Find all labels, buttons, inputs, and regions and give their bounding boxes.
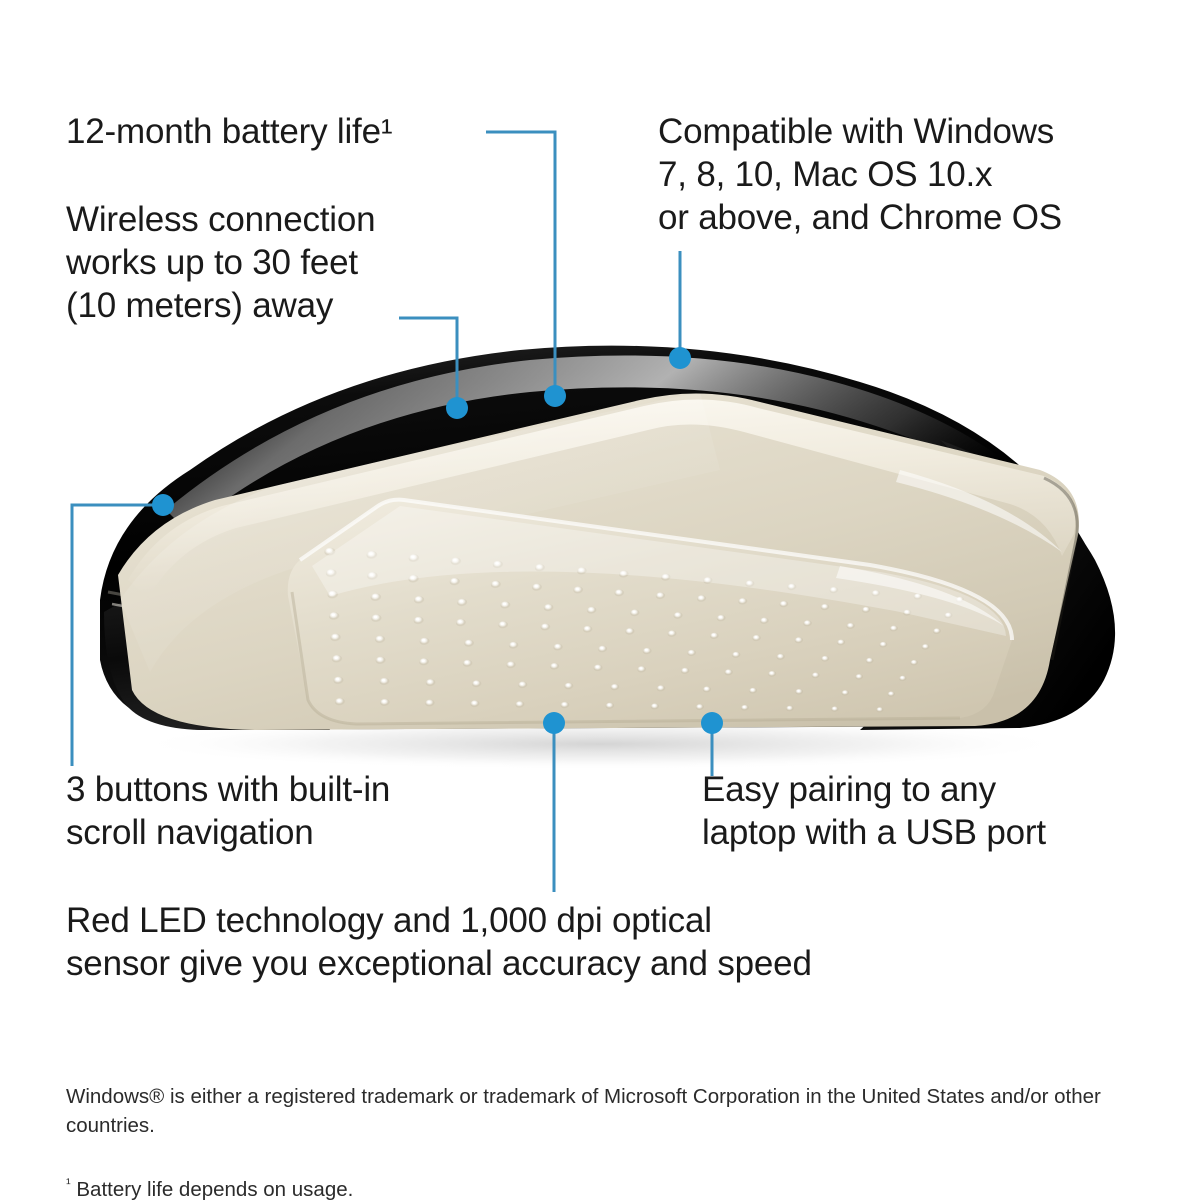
footnote-block: Windows® is either a registered trademar… [66, 1053, 1156, 1200]
callout-label-led: Red LED technology and 1,000 dpi optical… [66, 899, 812, 985]
footnote-marker: ¹ [66, 1175, 71, 1191]
callout-label-pairing: Easy pairing to any laptop with a USB po… [702, 768, 1046, 854]
product-feature-callout-image: 12-month battery life¹ Wireless connecti… [0, 0, 1200, 1200]
callout-label-wireless: Wireless connection works up to 30 feet … [66, 198, 375, 327]
footnote-trademark: Windows® is either a registered trademar… [66, 1082, 1156, 1140]
callout-label-compatibility: Compatible with Windows 7, 8, 10, Mac OS… [658, 110, 1062, 239]
callout-label-battery: 12-month battery life¹ [66, 110, 392, 153]
footnote-battery-text: Battery life depends on usage. [76, 1178, 353, 1200]
footnote-battery: ¹ Battery life depends on usage. [66, 1169, 1156, 1200]
callout-label-buttons: 3 buttons with built-in scroll navigatio… [66, 768, 390, 854]
